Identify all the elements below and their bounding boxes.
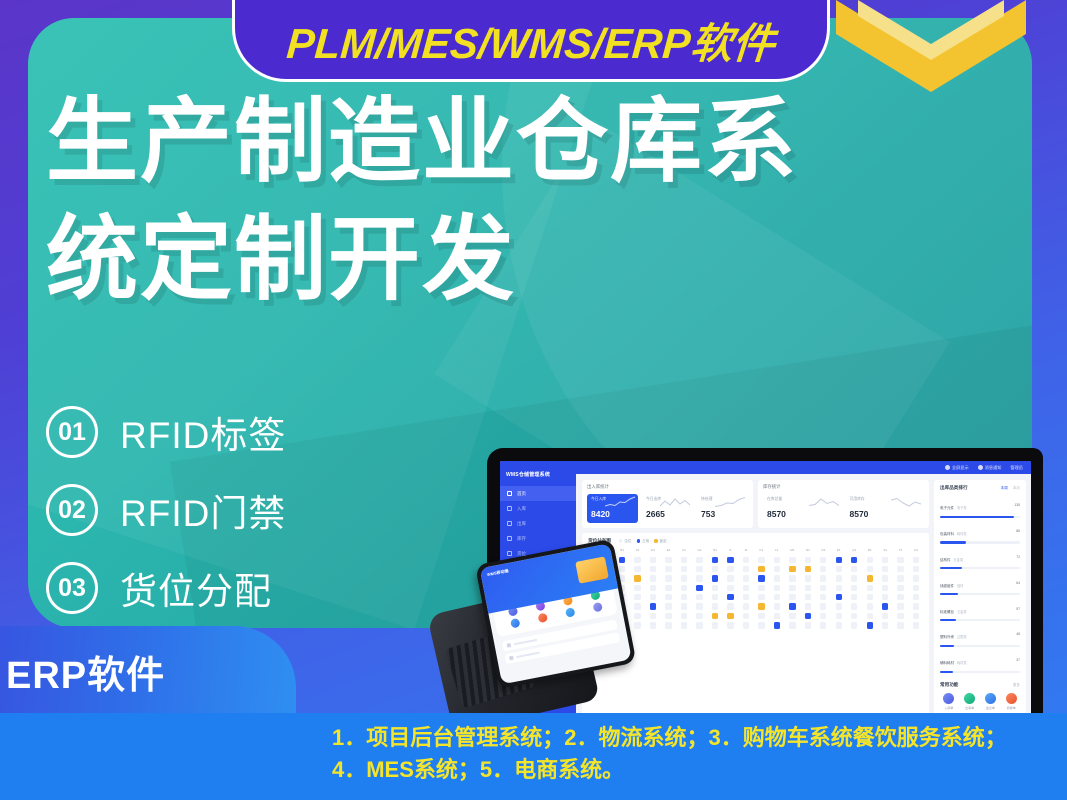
matrix-cell[interactable] [893, 583, 908, 592]
matrix-cell[interactable] [816, 611, 831, 620]
matrix-cell[interactable] [862, 564, 877, 573]
matrix-cell[interactable] [661, 611, 676, 620]
matrix-cell[interactable] [754, 564, 769, 573]
matrix-cell[interactable] [893, 621, 908, 630]
kpi-item[interactable]: 在库总量 8570 [763, 494, 842, 523]
matrix-cell[interactable] [723, 621, 738, 630]
matrix-cell[interactable] [630, 555, 645, 564]
matrix-cell[interactable] [877, 555, 892, 564]
matrix-cell[interactable] [816, 583, 831, 592]
rank-filter-week[interactable]: 本周 [1001, 486, 1008, 491]
dashboard-topbar: 全屏显示 消息通知 管理员 [576, 461, 1031, 474]
app-label: 出库单 [961, 706, 979, 710]
app-label: 入库单 [940, 706, 958, 710]
matrix-cell[interactable] [676, 564, 691, 573]
matrix-cell[interactable] [692, 611, 707, 620]
matrix-row [599, 621, 924, 630]
matrix-column-label: G1 [692, 548, 707, 555]
rank-name: 塑料外壳 [940, 635, 954, 639]
rank-list: 电子元件电子类135包装材料耗材类86结构件五金类72线缆组件线材64标准螺丝五… [940, 496, 1020, 677]
matrix-cell[interactable] [738, 583, 753, 592]
matrix-cell[interactable] [800, 593, 815, 602]
kpi-value: 8420 [591, 509, 634, 519]
matrix-cell[interactable] [785, 583, 800, 592]
sidebar-item-stock[interactable]: 库存 [500, 531, 576, 546]
matrix-cell[interactable] [661, 621, 676, 630]
matrix-row [599, 555, 924, 564]
matrix-row [599, 564, 924, 573]
outbound-icon [507, 521, 512, 526]
location-icon [507, 551, 512, 556]
legend-item: 占用 [637, 539, 650, 544]
kpi-item[interactable]: 今日出库 2665 [642, 494, 693, 523]
app-icon [964, 693, 975, 704]
matrix-cell[interactable] [645, 602, 660, 611]
matrix-cell[interactable] [816, 564, 831, 573]
rank-sub: 注塑类 [957, 635, 967, 639]
rank-value: 64 [1016, 581, 1020, 585]
matrix-cell[interactable] [908, 574, 923, 583]
matrix-cell[interactable] [707, 564, 722, 573]
feature-number-badge: 01 [46, 406, 98, 458]
matrix-cell[interactable] [877, 564, 892, 573]
matrix-cell[interactable] [692, 574, 707, 583]
matrix-cell[interactable] [785, 621, 800, 630]
matrix-cell[interactable] [877, 602, 892, 611]
matrix-column-label: Q1 [847, 548, 862, 555]
matrix-cell[interactable] [816, 593, 831, 602]
matrix-cell[interactable] [877, 593, 892, 602]
matrix-cell[interactable] [707, 611, 722, 620]
kpi-value: 8570 [850, 509, 921, 519]
matrix-cell[interactable] [676, 574, 691, 583]
matrix-row [599, 602, 924, 611]
sidebar-item-label: 库存 [517, 536, 526, 542]
list-item[interactable]: 包装材料耗材类86 [940, 522, 1020, 544]
app-shortcut[interactable]: 出库单 [961, 693, 979, 710]
matrix-cell[interactable] [692, 621, 707, 630]
matrix-cell[interactable] [847, 564, 862, 573]
rank-sub: 耗材类 [957, 532, 967, 536]
matrix-cell[interactable] [692, 602, 707, 611]
matrix-cell[interactable] [661, 574, 676, 583]
matrix-cell[interactable] [785, 555, 800, 564]
matrix-cell[interactable] [707, 602, 722, 611]
matrix-cell[interactable] [800, 574, 815, 583]
sparkline-icon [715, 496, 745, 508]
matrix-cell[interactable] [723, 611, 738, 620]
matrix-cell[interactable] [831, 583, 846, 592]
sparkline-icon [660, 496, 690, 508]
bottom-banner: 1．项目后台管理系统；2．物流系统；3．购物车系统餐饮服务系统； 4．MES系统… [0, 713, 1067, 800]
rank-name: 包装材料 [940, 532, 954, 536]
app-icon [985, 693, 996, 704]
matrix-cell[interactable] [816, 555, 831, 564]
rank-panel: 出库品类排行 本周 本月 电子元件电子类135包装材料耗材类86结构件五金类72… [934, 480, 1026, 716]
sidebar-item-home[interactable]: 首页 [500, 486, 576, 501]
matrix-cell[interactable] [769, 621, 784, 630]
rank-sub: 线材 [957, 584, 963, 588]
topbar-label: 全屏显示 [952, 465, 969, 471]
stock-icon [507, 536, 512, 541]
matrix-cell[interactable] [862, 611, 877, 620]
matrix-cell[interactable] [692, 564, 707, 573]
matrix-cell[interactable] [862, 583, 877, 592]
matrix-column-label: N1 [800, 548, 815, 555]
matrix-legend: 空位 占用 锁定 [619, 539, 667, 544]
rank-name: 标准螺丝 [940, 610, 954, 614]
list-item: 01 RFID标签 [46, 406, 286, 458]
progress-bar [940, 516, 1020, 518]
matrix-cell[interactable] [630, 583, 645, 592]
list-item[interactable]: 塑料外壳注塑类48 [940, 625, 1020, 647]
notifications-button[interactable]: 消息通知 [978, 465, 1002, 471]
rank-name: 线缆组件 [940, 584, 954, 588]
app-shortcut[interactable]: 入库单 [940, 693, 958, 710]
pda-app-icon[interactable] [537, 613, 548, 624]
pda-app-icon[interactable] [564, 607, 575, 618]
top-badge-text: PLM/MES/WMS/ERP软件 [285, 10, 777, 71]
dashboard-right-column: 出库品类排行 本周 本月 电子元件电子类135包装材料耗材类86结构件五金类72… [934, 480, 1026, 716]
sparkline-icon [605, 496, 635, 508]
matrix-cell[interactable] [800, 602, 815, 611]
feature-number-badge: 03 [46, 562, 98, 614]
legend-item: 锁定 [654, 539, 667, 544]
app-label: 调拨单 [1002, 706, 1020, 710]
matrix-cell[interactable] [847, 593, 862, 602]
matrix-cell[interactable] [785, 564, 800, 573]
matrix-cell[interactable] [661, 564, 676, 573]
legend-swatch [654, 539, 657, 542]
matrix-row [599, 583, 924, 592]
rank-sub: 五金类 [957, 610, 967, 614]
matrix-cell[interactable] [738, 574, 753, 583]
home-icon [507, 491, 512, 496]
matrix-cell[interactable] [908, 583, 923, 592]
matrix-cell[interactable] [723, 593, 738, 602]
list-item: 02 RFID门禁 [46, 484, 286, 536]
matrix-cell[interactable] [738, 611, 753, 620]
legend-item: 空位 [619, 539, 632, 544]
matrix-cell[interactable] [723, 555, 738, 564]
rank-value: 72 [1016, 555, 1020, 559]
matrix-cell[interactable] [908, 621, 923, 630]
progress-bar [940, 541, 1020, 543]
matrix-column-label: C1 [630, 548, 645, 555]
matrix-cell[interactable] [630, 574, 645, 583]
matrix-cell[interactable] [645, 555, 660, 564]
matrix-cell[interactable] [630, 602, 645, 611]
matrix-cell[interactable] [893, 555, 908, 564]
matrix-cell[interactable] [645, 621, 660, 630]
matrix-cell[interactable] [785, 602, 800, 611]
matrix-cell[interactable] [661, 583, 676, 592]
row-placeholder [514, 639, 538, 646]
matrix-cell[interactable] [661, 555, 676, 564]
matrix-cell[interactable] [877, 583, 892, 592]
app-icon [943, 693, 954, 704]
matrix-cell[interactable] [707, 555, 722, 564]
matrix-cell[interactable] [676, 602, 691, 611]
matrix-cell[interactable] [800, 611, 815, 620]
legend-label: 锁定 [660, 539, 667, 544]
matrix-cell[interactable] [800, 583, 815, 592]
feature-label: 货位分配 [120, 561, 272, 615]
topbar-label: 管理员 [1010, 465, 1023, 471]
list-item[interactable]: 标准螺丝五金类57 [940, 600, 1020, 622]
matrix-cell[interactable] [831, 564, 846, 573]
matrix-column-label: T1 [893, 548, 908, 555]
kpi-card-inout: 出入库统计 今日入库 8420 [582, 480, 753, 528]
matrix-cell[interactable] [831, 574, 846, 583]
matrix-column-label: S1 [877, 548, 892, 555]
chevron-decor-icon [836, 0, 1026, 96]
progress-bar [940, 567, 1020, 569]
matrix-column-label: H1 [707, 548, 722, 555]
rank-name: 结构件 [940, 558, 951, 562]
headline-line-1: 生产制造业仓库系 [46, 91, 798, 193]
sidebar-item-outbound[interactable]: 出库 [500, 516, 576, 531]
banner-line-2: 4．MES系统；5．电商系统。 [332, 754, 1055, 786]
matrix-column-label: O1 [816, 548, 831, 555]
matrix-cells[interactable] [599, 555, 924, 630]
matrix-cell[interactable] [754, 611, 769, 620]
rank-filter-month[interactable]: 本月 [1013, 486, 1020, 491]
rank-value: 86 [1016, 529, 1020, 533]
matrix-cell[interactable] [908, 564, 923, 573]
erp-panel-title: ERP软件 [6, 644, 296, 699]
matrix-cell[interactable] [862, 593, 877, 602]
kpi-item[interactable]: 待处理 753 [697, 494, 748, 523]
rank-sub: 耗材类 [957, 661, 967, 665]
matrix-cell[interactable] [816, 621, 831, 630]
sidebar-item-label: 入库 [517, 506, 526, 512]
matrix-cell[interactable] [893, 564, 908, 573]
list-item: 03 货位分配 [46, 562, 286, 614]
kpi-row: 出入库统计 今日入库 8420 [582, 480, 929, 528]
matrix-cell[interactable] [707, 593, 722, 602]
user-menu[interactable]: 管理员 [1010, 465, 1023, 471]
rank-sub: 五金类 [954, 558, 964, 562]
matrix-cell[interactable] [893, 602, 908, 611]
matrix-cell[interactable] [769, 564, 784, 573]
legend-label: 占用 [642, 539, 649, 544]
matrix-cell[interactable] [908, 602, 923, 611]
list-item[interactable]: 线缆组件线材64 [940, 574, 1020, 596]
matrix-cell[interactable] [847, 574, 862, 583]
feature-number-badge: 02 [46, 484, 98, 536]
matrix-cell[interactable] [908, 555, 923, 564]
matrix-cell[interactable] [738, 621, 753, 630]
matrix-cell[interactable] [738, 602, 753, 611]
matrix-cell[interactable] [785, 611, 800, 620]
matrix-column-label: F1 [676, 548, 691, 555]
matrix-column-label: P1 [831, 548, 846, 555]
apps-more-link[interactable]: 更多 [1013, 683, 1020, 688]
matrix-cell[interactable] [893, 574, 908, 583]
matrix-cell[interactable] [738, 564, 753, 573]
sparkline-icon [891, 496, 921, 508]
matrix-cell[interactable] [676, 593, 691, 602]
feature-list: 01 RFID标签 02 RFID门禁 03 货位分配 [46, 406, 286, 640]
row-icon [507, 643, 512, 648]
matrix-cell[interactable] [800, 555, 815, 564]
app-shortcut[interactable]: 调拨单 [1002, 693, 1020, 710]
matrix-cell[interactable] [754, 555, 769, 564]
pda-app: WMS移动端 [480, 543, 632, 684]
rank-sub: 电子类 [957, 506, 967, 510]
matrix-cell[interactable] [707, 574, 722, 583]
banner-line-1: 1．项目后台管理系统；2．物流系统；3．购物车系统餐饮服务系统； [332, 722, 1055, 754]
matrix-cell[interactable] [816, 602, 831, 611]
matrix-cell[interactable] [661, 602, 676, 611]
matrix-cell[interactable] [862, 602, 877, 611]
matrix-column-label: J1 [738, 548, 753, 555]
matrix-cell[interactable] [831, 611, 846, 620]
row-icon [509, 656, 514, 661]
matrix-cell[interactable] [847, 583, 862, 592]
matrix-cell[interactable] [738, 555, 753, 564]
sparkline-icon [809, 496, 839, 508]
feature-label: RFID标签 [120, 405, 286, 459]
matrix-cell[interactable] [754, 593, 769, 602]
progress-bar [940, 671, 1020, 673]
sidebar-item-inbound[interactable]: 入库 [500, 501, 576, 516]
matrix-cell[interactable] [630, 564, 645, 573]
row-placeholder [516, 652, 540, 659]
headline-line-2: 统定制开发 [46, 202, 798, 320]
rank-value: 135 [1014, 503, 1020, 507]
matrix-cell[interactable] [769, 611, 784, 620]
matrix-cell[interactable] [847, 621, 862, 630]
rank-value: 57 [1016, 607, 1020, 611]
rank-panel-title: 出库品类排行 [940, 485, 968, 491]
matrix-cell[interactable] [692, 593, 707, 602]
matrix-cell[interactable] [893, 593, 908, 602]
matrix-cell[interactable] [754, 602, 769, 611]
matrix-cell[interactable] [862, 555, 877, 564]
matrix-column-label: U1 [908, 548, 923, 555]
matrix-column-label: K1 [754, 548, 769, 555]
list-item[interactable]: 电子元件电子类135 [940, 496, 1020, 518]
matrix-column-label: M1 [785, 548, 800, 555]
matrix-cell[interactable] [877, 611, 892, 620]
matrix-cell[interactable] [908, 593, 923, 602]
bell-icon [978, 465, 983, 470]
matrix-cell[interactable] [676, 583, 691, 592]
matrix-cell[interactable] [754, 621, 769, 630]
rank-name: 电子元件 [940, 506, 954, 510]
rank-value: 37 [1016, 658, 1020, 662]
matrix-cell[interactable] [645, 583, 660, 592]
matrix-cell[interactable] [645, 593, 660, 602]
kpi-card-stock: 库存统计 在库总量 8570 [758, 480, 929, 528]
legend-label: 空位 [624, 539, 631, 544]
matrix-cell[interactable] [738, 593, 753, 602]
matrix-cell[interactable] [754, 583, 769, 592]
matrix-cell[interactable] [847, 602, 862, 611]
matrix-cell[interactable] [707, 621, 722, 630]
matrix-cell[interactable] [692, 555, 707, 564]
matrix-cell[interactable] [785, 574, 800, 583]
matrix-cell[interactable] [831, 602, 846, 611]
app-icon [1006, 693, 1017, 704]
matrix-cell[interactable] [676, 555, 691, 564]
expand-icon [945, 465, 950, 470]
matrix-cell[interactable] [723, 574, 738, 583]
matrix-cell[interactable] [847, 555, 862, 564]
legend-swatch [619, 539, 622, 542]
matrix-cell[interactable] [831, 555, 846, 564]
matrix-cell[interactable] [831, 621, 846, 630]
matrix-cell[interactable] [707, 583, 722, 592]
matrix-cell[interactable] [769, 583, 784, 592]
matrix-cell[interactable] [769, 593, 784, 602]
feature-label: RFID门禁 [120, 483, 286, 537]
matrix-column-label: E1 [661, 548, 676, 555]
kpi-value: 753 [701, 509, 744, 519]
sidebar-item-label: 出库 [517, 521, 526, 527]
matrix-cell[interactable] [630, 593, 645, 602]
matrix-column-label: R1 [862, 548, 877, 555]
pda-app-icon[interactable] [592, 602, 603, 613]
kpi-item[interactable]: 今日入库 8420 [587, 494, 638, 523]
matrix-cell[interactable] [816, 574, 831, 583]
matrix-cell[interactable] [723, 564, 738, 573]
matrix-cell[interactable] [754, 574, 769, 583]
matrix-cell[interactable] [831, 593, 846, 602]
inbound-icon [507, 506, 512, 511]
matrix-cell[interactable] [877, 621, 892, 630]
pda-screen: WMS移动端 [475, 539, 636, 689]
matrix-cell[interactable] [676, 611, 691, 620]
matrix-cell[interactable] [645, 574, 660, 583]
matrix-cell[interactable] [723, 583, 738, 592]
matrix-cell[interactable] [769, 574, 784, 583]
matrix-column-label: I1 [723, 548, 738, 555]
matrix-cell[interactable] [862, 621, 877, 630]
matrix-cell[interactable] [645, 611, 660, 620]
list-item[interactable]: 辅料耗材耗材类37 [940, 651, 1020, 673]
kpi-item[interactable]: 可用库存 8570 [846, 494, 925, 523]
matrix-cell[interactable] [908, 611, 923, 620]
matrix-cell[interactable] [847, 611, 862, 620]
matrix-cell[interactable] [862, 574, 877, 583]
list-item[interactable]: 结构件五金类72 [940, 548, 1020, 570]
matrix-cell[interactable] [661, 593, 676, 602]
matrix-column-label: L1 [769, 548, 784, 555]
matrix-cell[interactable] [800, 564, 815, 573]
legend-swatch [637, 539, 640, 542]
pda-app-icon[interactable] [509, 618, 520, 629]
matrix-cell[interactable] [893, 611, 908, 620]
matrix-cell[interactable] [769, 555, 784, 564]
matrix-row [599, 574, 924, 583]
sidebar-item-label: 首页 [517, 491, 526, 497]
matrix-cell[interactable] [877, 574, 892, 583]
matrix-cell[interactable] [692, 583, 707, 592]
matrix-cell[interactable] [800, 621, 815, 630]
app-shortcut[interactable]: 盘点单 [982, 693, 1000, 710]
matrix-cell[interactable] [785, 593, 800, 602]
matrix-cell[interactable] [645, 564, 660, 573]
fullscreen-button[interactable]: 全屏显示 [945, 465, 969, 471]
promo-poster: PLM/MES/WMS/ERP软件 生产制造业仓库系 统定制开发 01 RFID… [0, 0, 1067, 800]
matrix-cell[interactable] [676, 621, 691, 630]
progress-bar [940, 645, 1020, 647]
matrix-cell[interactable] [723, 602, 738, 611]
matrix-cell[interactable] [769, 602, 784, 611]
